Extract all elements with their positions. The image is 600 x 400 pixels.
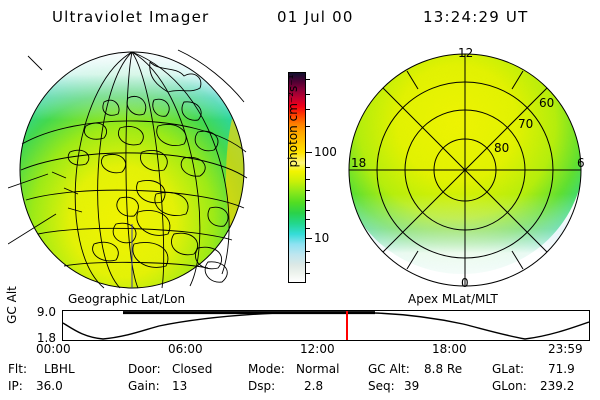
status-key-glon: GLon: <box>492 379 527 393</box>
strip-trace-svg <box>63 311 589 340</box>
apex-mlat-mlt-polar-plot: 12 18 6 0 60 70 80 <box>334 44 596 296</box>
status-row: Flt: LBHL Door: Closed Mode: Normal GC A… <box>0 362 600 379</box>
status-value-gain: 13 <box>172 379 187 393</box>
strip-xtick-3: 18:00 <box>432 342 467 356</box>
strip-xtick-0: 00:00 <box>36 342 71 356</box>
polar-mlt-label-6: 6 <box>577 156 585 170</box>
status-key-flt: Flt: <box>8 362 27 376</box>
status-value-door: Closed <box>172 362 212 376</box>
globe-svg <box>8 48 266 293</box>
status-key-gcalt: GC Alt: <box>368 362 410 376</box>
status-value-seq: 39 <box>404 379 419 393</box>
status-value-mode: Normal <box>296 362 339 376</box>
polar-mlt-label-12: 12 <box>458 46 473 60</box>
strip-xtick-2: 12:00 <box>300 342 335 356</box>
colorbar-minor-tick <box>306 273 310 274</box>
polar-mlt-label-0: 0 <box>461 276 469 290</box>
strip-xtick-1: 06:00 <box>168 342 203 356</box>
status-value-ip: 36.0 <box>36 379 63 393</box>
status-key-mode: Mode: <box>248 362 285 376</box>
colorbar-minor-tick <box>306 167 310 168</box>
colorbar-minor-tick <box>306 210 310 211</box>
colorbar-axis-label: photon cm⁻²s⁻¹ <box>286 46 300 196</box>
status-value-glat: 71.9 <box>548 362 575 376</box>
status-key-ip: IP: <box>8 379 23 393</box>
status-value-dsp: 2.8 <box>304 379 323 393</box>
strip-ytick-top: 9.0 <box>24 305 56 319</box>
instrument-title: Ultraviolet Imager <box>52 8 209 26</box>
geographic-globe-plot <box>8 48 266 293</box>
status-row: IP: 36.0 Gain: 13 Dsp: 2.8 Seq: 39 GLon:… <box>0 379 600 396</box>
strip-axes-frame[interactable] <box>62 310 590 341</box>
colorbar-minor-tick <box>306 262 310 263</box>
colorbar-minor-tick <box>306 228 310 229</box>
colorbar-minor-tick <box>306 219 310 220</box>
strip-title-geographic: Geographic Lat/Lon <box>68 292 185 306</box>
strip-xtick-4: 23:59 <box>548 342 583 356</box>
uvi-display: Ultraviolet Imager 01 Jul 00 13:24:29 UT <box>0 0 600 400</box>
polar-latitude-label-60: 60 <box>539 96 554 110</box>
colorbar-minor-tick <box>306 79 310 80</box>
colorbar-ticklabel-10: 10 <box>314 231 329 245</box>
polar-mlt-label-18: 18 <box>351 156 366 170</box>
colorbar-minor-tick <box>306 251 310 252</box>
status-key-door: Door: <box>128 362 161 376</box>
polar-mlt-spokes <box>349 54 581 286</box>
colorbar-minor-tick <box>306 190 310 191</box>
colorbar-minor-tick <box>306 126 310 127</box>
current-time-cursor[interactable] <box>346 311 348 340</box>
polar-svg <box>334 44 596 296</box>
colorbar-minor-tick <box>306 179 310 180</box>
status-key-seq: Seq: <box>368 379 395 393</box>
polar-latitude-label-80: 80 <box>494 141 509 155</box>
colorbar-minor-tick <box>306 109 310 110</box>
status-key-glat: GLat: <box>492 362 524 376</box>
status-key-gain: Gain: <box>128 379 160 393</box>
status-value-glon: 239.2 <box>540 379 574 393</box>
polar-latitude-label-70: 70 <box>518 117 533 131</box>
strip-yaxis-label: GC Alt <box>5 277 19 333</box>
status-value-flt: LBHL <box>44 362 75 376</box>
colorbar-tick-10 <box>306 238 312 239</box>
globe-canvas <box>8 48 266 293</box>
status-value-gcalt: 8.8 Re <box>424 362 462 376</box>
colorbar-minor-tick <box>306 200 310 201</box>
gc-alt-trace <box>63 312 589 339</box>
observation-time: 13:24:29 UT <box>423 8 528 26</box>
colorbar-tick-100 <box>306 152 312 153</box>
strip-title-apex: Apex MLat/MLT <box>408 292 498 306</box>
status-key-dsp: Dsp: <box>248 379 275 393</box>
colorbar-panel: photon cm⁻²s⁻¹ 100 10 <box>266 48 332 296</box>
orbit-strip-plot: Geographic Lat/Lon Apex MLat/MLT GC Alt … <box>0 292 600 354</box>
colorbar-minor-tick <box>306 94 310 95</box>
observation-date: 01 Jul 00 <box>277 8 354 26</box>
